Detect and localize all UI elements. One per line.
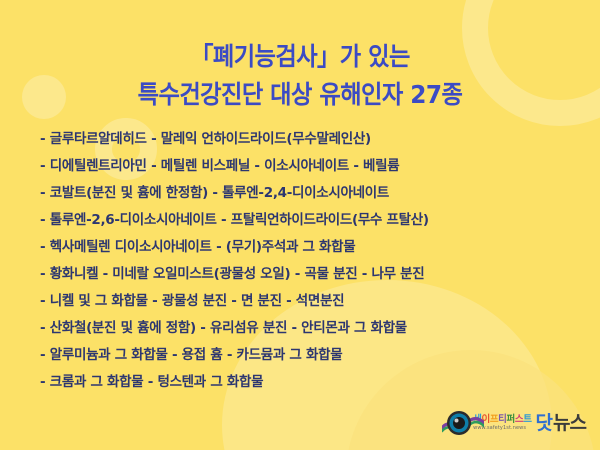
list-item: - 산화철(분진 및 흄에 정함) - 유리섬유 분진 - 안티몬과 그 화합물	[40, 315, 570, 342]
poster-canvas: 「폐기능검사」가 있는 특수건강진단 대상 유해인자 27종 - 글루타르알데히…	[0, 0, 600, 450]
publisher-logo[interactable]: 세이프티퍼스트 www.safety1st.news 닷 뉴스	[446, 408, 586, 438]
list-item: - 디에틸렌트리아민 - 메틸렌 비스페닐 - 이소시아네이트 - 베릴륨	[40, 153, 570, 180]
logo-char-7: 트	[523, 414, 531, 425]
list-item: - 글루타르알데히드 - 말레익 언하이드라이드(무수말레인산)	[40, 126, 570, 153]
list-item: - 크롬과 그 화합물 - 텅스텐과 그 화합물	[40, 369, 570, 396]
list-item: - 헥사메틸렌 디이소시아네이트 - (무기)주석과 그 화합물	[40, 234, 570, 261]
list-item: - 톨루엔-2,6-디이소시아네이트 - 프탈릭언하이드라이드(무수 프탈산)	[40, 207, 570, 234]
title-line-2: 특수건강진단 대상 유해인자 27종	[21, 76, 579, 114]
logo-char-6: 스	[515, 414, 523, 425]
list-item: - 코발트(분진 및 흄에 한정함) - 톨루엔-2,4-디이소시아네이트	[40, 180, 570, 207]
lens-circle-icon	[446, 410, 472, 436]
list-item: - 알루미늄과 그 화합물 - 용접 흄 - 카드뮴과 그 화합물	[40, 342, 570, 369]
list-item: - 황화니켈 - 미네랄 오일미스트(광물성 오일) - 곡물 분진 - 나무 …	[40, 261, 570, 288]
logo-char-3: 프	[490, 414, 498, 425]
logo-char-4: 티	[498, 414, 506, 425]
hazard-list: - 글루타르알데히드 - 말레익 언하이드라이드(무수말레인산) - 디에틸렌트…	[40, 126, 570, 396]
logo-news-word: 뉴스	[553, 414, 586, 433]
list-item: - 니켈 및 그 화합물 - 광물성 분진 - 면 분진 - 석면분진	[40, 288, 570, 315]
logo-char-5: 퍼	[507, 414, 515, 425]
page-title: 「폐기능검사」가 있는 특수건강진단 대상 유해인자 27종	[0, 38, 600, 114]
title-line-1: 「폐기능검사」가 있는	[21, 38, 579, 76]
logo-dot-word: 닷	[536, 414, 552, 433]
camera-lens-icon	[446, 410, 472, 436]
